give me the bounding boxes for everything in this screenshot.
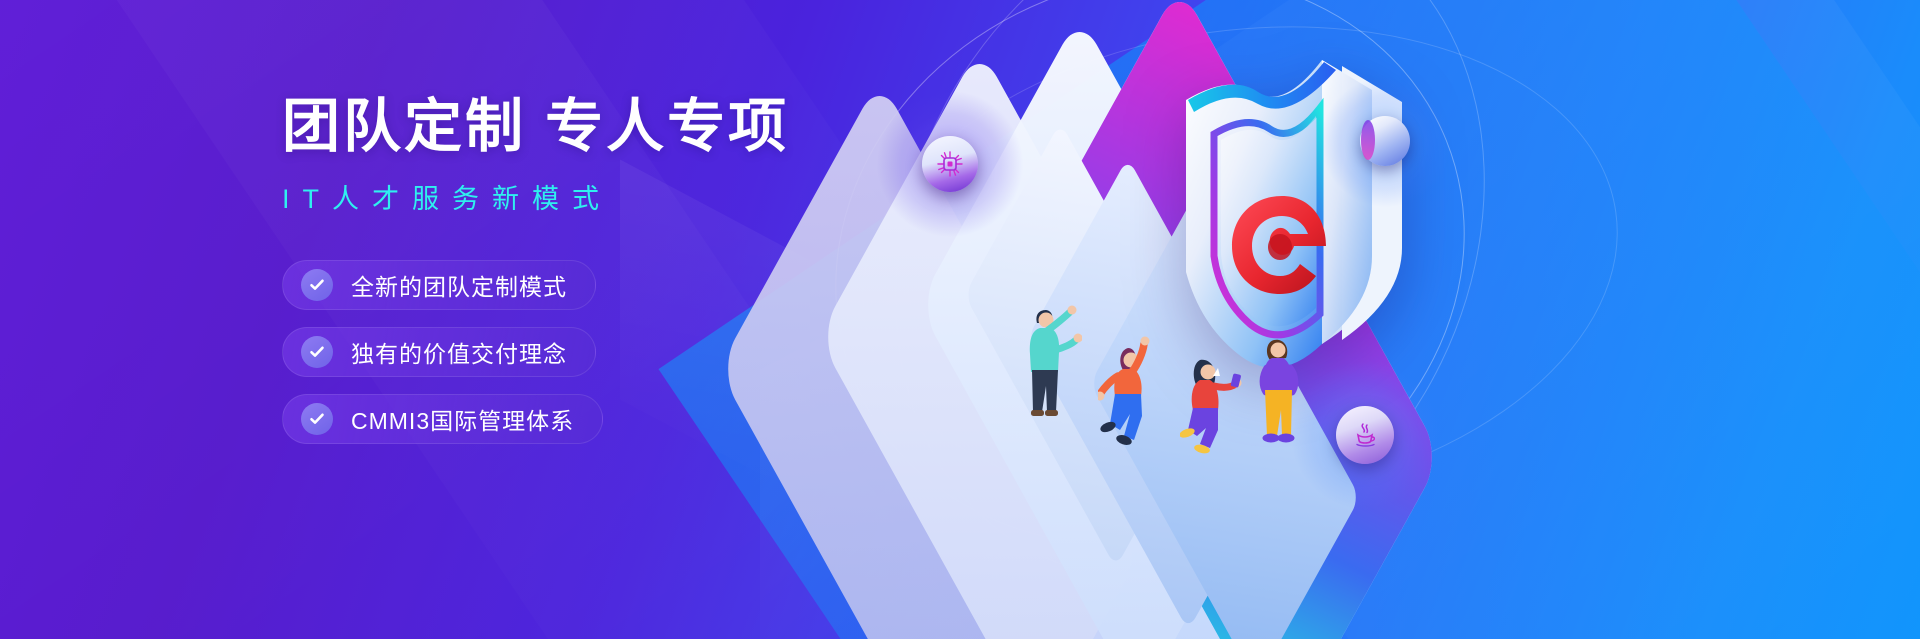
promo-banner: 团队定制 专人专项 IT人才服务新模式 全新的团队定制模式 独有的价值交付理念 …	[0, 0, 1920, 639]
feature-pill-label: 独有的价值交付理念	[351, 335, 567, 369]
spiral-e-logo	[1232, 196, 1326, 294]
java-orb	[1336, 406, 1394, 464]
person-red-jacket	[1180, 350, 1244, 464]
hero-illustration	[760, 0, 1920, 639]
check-icon	[301, 336, 333, 368]
page-subtitle: IT人才服务新模式	[282, 177, 922, 216]
banner-copy: 团队定制 专人专项 IT人才服务新模式 全新的团队定制模式 独有的价值交付理念 …	[282, 96, 922, 444]
person-teal-shirt	[1018, 300, 1082, 426]
person-purple-shirt	[1252, 330, 1314, 454]
check-icon	[301, 403, 333, 435]
chip-icon	[922, 136, 978, 192]
person-orange-shirt	[1098, 336, 1174, 458]
feature-pill-1[interactable]: 全新的团队定制模式	[282, 260, 596, 310]
feature-pill-3[interactable]: CMMI3国际管理体系	[282, 394, 603, 444]
feature-pill-label: CMMI3国际管理体系	[351, 402, 574, 436]
page-title: 团队定制 专人专项	[282, 96, 922, 159]
check-icon	[301, 269, 333, 301]
java-icon	[1336, 406, 1394, 464]
feature-pill-label: 全新的团队定制模式	[351, 268, 567, 302]
feature-pill-list: 全新的团队定制模式 独有的价值交付理念 CMMI3国际管理体系	[282, 260, 922, 444]
sphere-orb	[1360, 116, 1410, 166]
feature-pill-2[interactable]: 独有的价值交付理念	[282, 327, 596, 377]
chip-orb	[922, 136, 978, 192]
